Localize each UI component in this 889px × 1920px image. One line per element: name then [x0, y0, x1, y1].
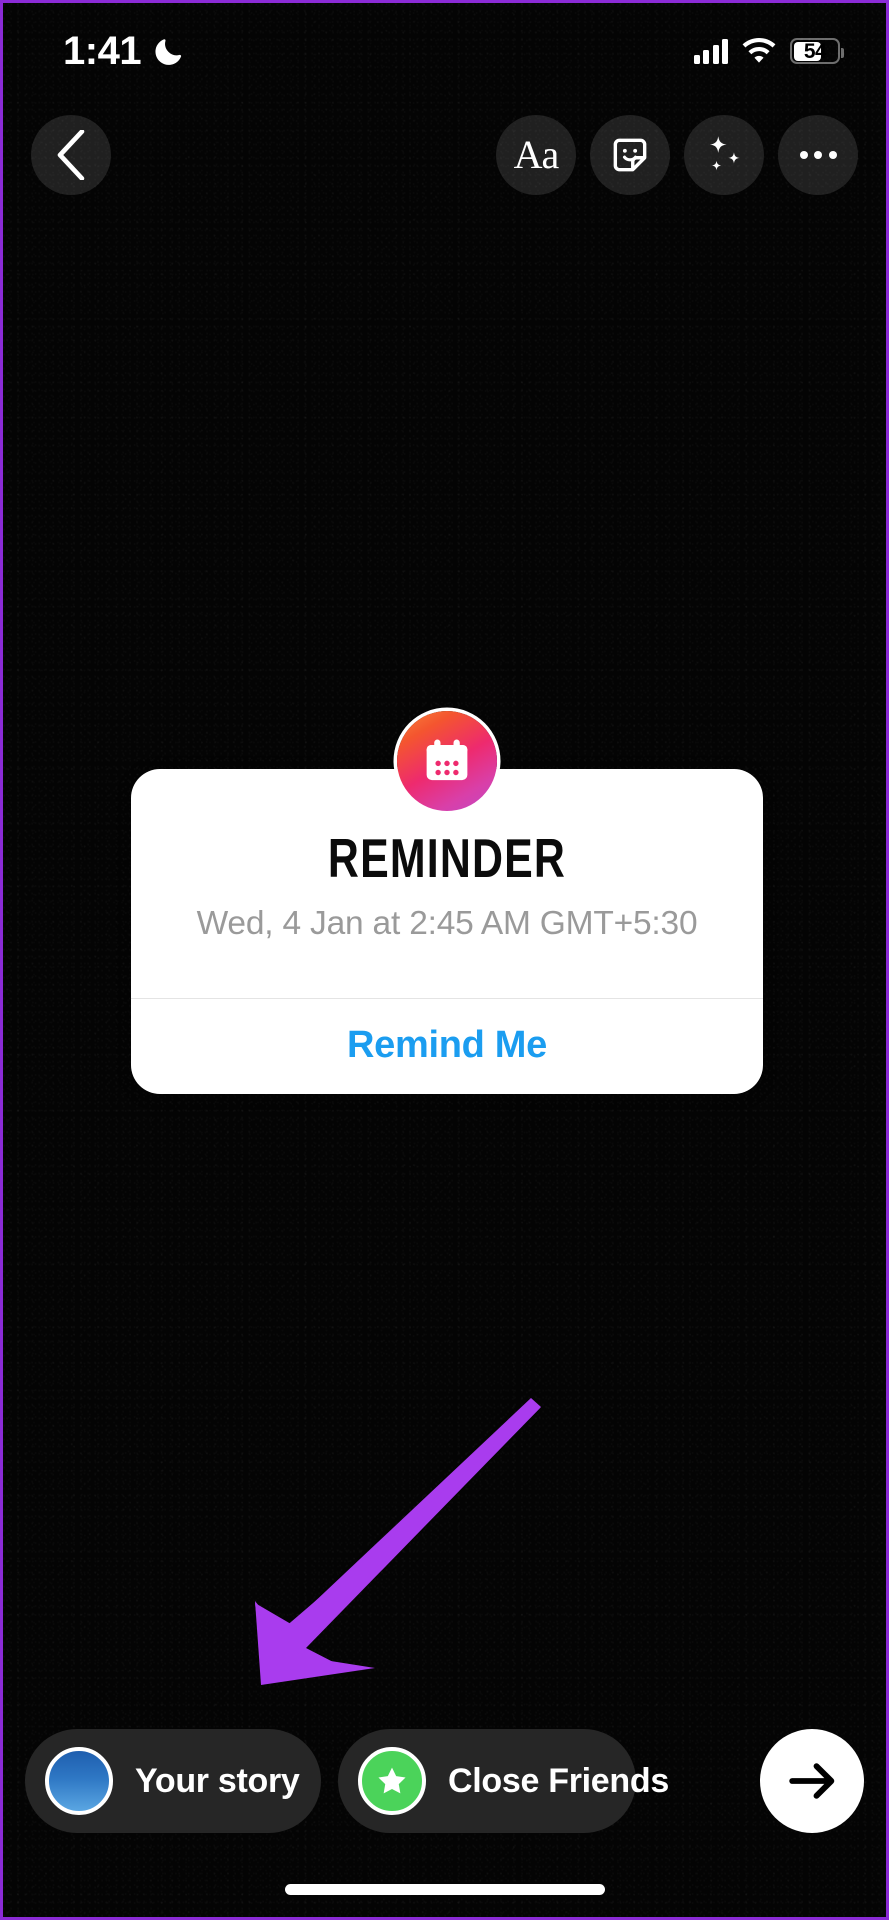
reminder-title: REMINDER [219, 831, 675, 886]
sticker-smiley-icon [608, 133, 652, 177]
send-arrow-icon [785, 1754, 839, 1808]
reminder-card: REMINDER Wed, 4 Jan at 2:45 AM GMT+5:30 … [131, 769, 763, 1094]
send-story-button[interactable] [760, 1729, 864, 1833]
calendar-icon [421, 735, 473, 787]
text-tool-label: Aa [514, 135, 559, 175]
effects-button[interactable] [684, 115, 764, 195]
calendar-badge [397, 711, 497, 811]
story-share-bar: Your story Close Friends [3, 1729, 886, 1833]
home-indicator-bar [285, 1884, 605, 1895]
battery-level-label: 54 [792, 41, 838, 62]
your-story-label: Your story [135, 1764, 300, 1798]
remind-me-button[interactable]: Remind Me [131, 999, 763, 1094]
battery-icon: 54 [790, 38, 840, 64]
your-story-button[interactable]: Your story [25, 1729, 321, 1833]
chevron-left-icon [54, 130, 88, 180]
profile-avatar-icon [45, 1747, 113, 1815]
text-tool-button[interactable]: Aa [496, 115, 576, 195]
story-editor-toolbar: Aa [3, 113, 886, 197]
status-bar-left: 1:41 [63, 31, 184, 71]
toolbar-right-group: Aa [496, 115, 858, 195]
star-glyph-icon [375, 1764, 409, 1798]
remind-me-label: Remind Me [347, 1024, 547, 1066]
wifi-icon [742, 38, 776, 64]
sticker-button[interactable] [590, 115, 670, 195]
close-friends-button[interactable]: Close Friends [338, 1729, 636, 1833]
sparkles-icon [701, 132, 747, 178]
three-dots-icon [800, 151, 837, 159]
status-bar-clock: 1:41 [63, 31, 141, 71]
reminder-datetime: Wed, 4 Jan at 2:45 AM GMT+5:30 [155, 905, 739, 944]
more-options-button[interactable] [778, 115, 858, 195]
back-button[interactable] [31, 115, 111, 195]
close-friends-label: Close Friends [448, 1764, 669, 1798]
crescent-moon-icon [154, 35, 184, 67]
status-bar-right: 54 [694, 38, 841, 64]
cellular-signal-icon [694, 38, 729, 64]
green-star-icon [358, 1747, 426, 1815]
reminder-sticker[interactable]: REMINDER Wed, 4 Jan at 2:45 AM GMT+5:30 … [131, 769, 763, 1094]
annotation-arrow-icon [255, 1398, 541, 1685]
status-bar: 1:41 54 [3, 3, 886, 99]
instagram-story-editor-screen: 1:41 54 [0, 0, 889, 1920]
